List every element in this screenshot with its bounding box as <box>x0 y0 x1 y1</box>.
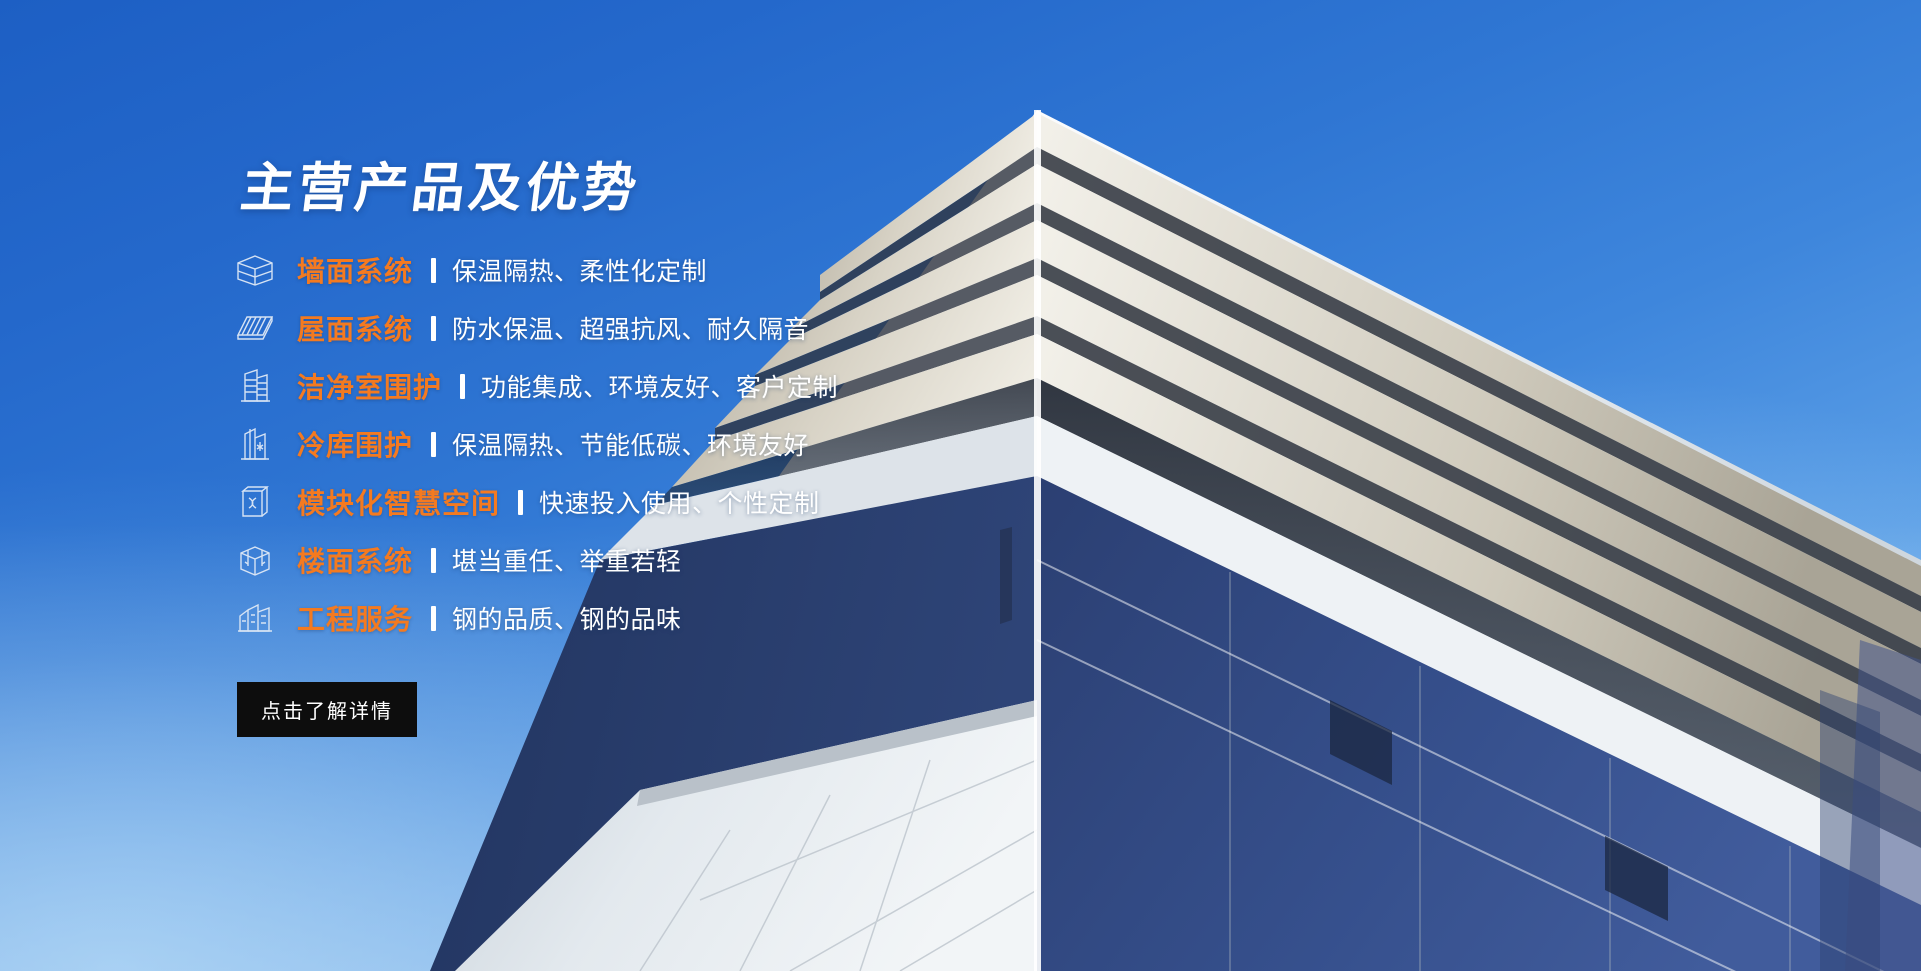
separator-bar <box>460 374 465 399</box>
product-row-cleanroom[interactable]: 洁净室围护 功能集成、环境友好、客户定制 <box>233 364 1153 408</box>
modular-space-icon <box>233 483 277 521</box>
product-name: 楼面系统 <box>297 540 413 580</box>
separator-bar <box>431 432 436 457</box>
product-name: 洁净室围护 <box>297 366 442 406</box>
product-desc: 功能集成、环境友好、客户定制 <box>481 368 838 404</box>
floor-system-icon <box>233 541 277 579</box>
product-list: 墙面系统 保温隔热、柔性化定制 屋面系统 防水保温、超强抗风、耐久隔音 <box>233 248 1153 640</box>
product-row-cold-storage[interactable]: 冷库围护 保温隔热、节能低碳、环境友好 <box>233 422 1153 466</box>
product-name: 屋面系统 <box>297 308 413 348</box>
product-row-modular-space[interactable]: 模块化智慧空间 快速投入使用、个性定制 <box>233 480 1153 524</box>
product-name: 冷库围护 <box>297 424 413 464</box>
wall-system-icon <box>233 251 277 289</box>
product-row-floor-system[interactable]: 楼面系统 堪当重任、举重若轻 <box>233 538 1153 582</box>
hero-content: 主营产品及优势 墙面系统 保温隔热、柔性化定制 <box>233 160 1153 737</box>
learn-more-button[interactable]: 点击了解详情 <box>237 682 417 737</box>
product-desc: 防水保温、超强抗风、耐久隔音 <box>452 310 809 346</box>
product-name: 墙面系统 <box>297 250 413 290</box>
cold-storage-icon <box>233 425 277 463</box>
product-desc: 保温隔热、节能低碳、环境友好 <box>452 426 809 462</box>
separator-bar <box>431 258 436 283</box>
roof-system-icon <box>233 309 277 347</box>
product-row-engineering[interactable]: 工程服务 钢的品质、钢的品味 <box>233 596 1153 640</box>
separator-bar <box>431 606 436 631</box>
product-row-wall-system[interactable]: 墙面系统 保温隔热、柔性化定制 <box>233 248 1153 292</box>
product-desc: 保温隔热、柔性化定制 <box>452 252 707 288</box>
product-name: 模块化智慧空间 <box>297 482 500 522</box>
product-desc: 堪当重任、举重若轻 <box>452 542 682 578</box>
product-desc: 钢的品质、钢的品味 <box>452 600 682 636</box>
separator-bar <box>431 548 436 573</box>
page-title: 主营产品及优势 <box>237 160 1156 218</box>
engineering-icon <box>233 599 277 637</box>
separator-bar <box>431 316 436 341</box>
product-name: 工程服务 <box>297 598 413 638</box>
hero-banner: 主营产品及优势 墙面系统 保温隔热、柔性化定制 <box>0 0 1921 971</box>
separator-bar <box>518 490 523 515</box>
cleanroom-icon <box>233 367 277 405</box>
product-row-roof-system[interactable]: 屋面系统 防水保温、超强抗风、耐久隔音 <box>233 306 1153 350</box>
product-desc: 快速投入使用、个性定制 <box>539 484 820 520</box>
